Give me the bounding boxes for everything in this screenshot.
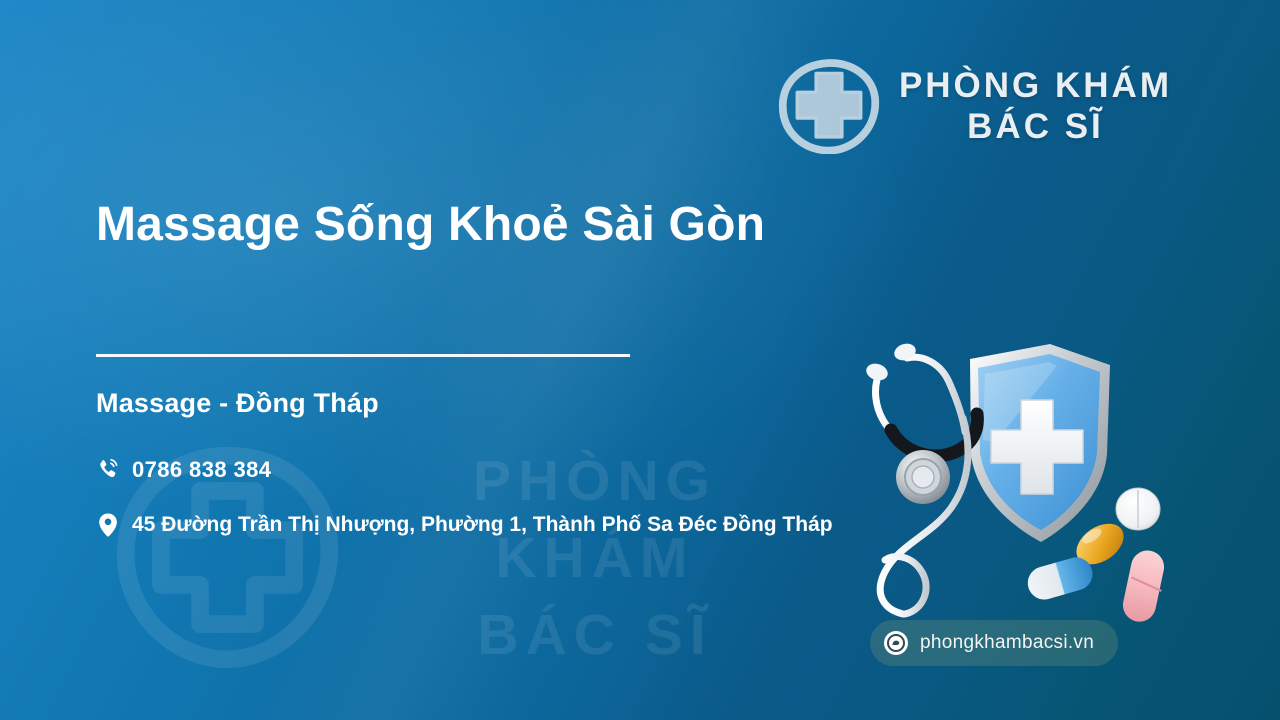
brand-logo: PHÒNG KHÁM BÁC SĨ — [777, 58, 1172, 154]
website-badge[interactable]: phongkhambacsi.vn — [870, 620, 1118, 666]
phone-row[interactable]: 0786 838 384 — [96, 454, 271, 485]
globe-icon — [883, 630, 909, 656]
category-subtitle: Massage - Đồng Tháp — [96, 388, 379, 419]
shield-cross-logo-icon — [777, 58, 881, 154]
divider — [96, 354, 630, 357]
phone-ringing-icon — [96, 456, 120, 482]
brand-line-1: PHÒNG KHÁM — [899, 65, 1172, 106]
brand-name: PHÒNG KHÁM BÁC SĨ — [899, 65, 1172, 148]
clinic-banner: PHÒNG KHÁM BÁC SĨ PHÒNG KHÁM BÁC SĨ Mass… — [0, 0, 1280, 720]
stethoscope-graphic — [864, 341, 977, 614]
address-text: 45 Đường Trần Thị Nhượng, Phường 1, Thàn… — [132, 510, 833, 540]
shield-graphic — [970, 344, 1110, 542]
page-title: Massage Sống Khoẻ Sài Gòn — [96, 196, 876, 254]
medical-shield-stethoscope-pills-illustration — [845, 322, 1175, 622]
website-url: phongkhambacsi.vn — [920, 632, 1094, 654]
brand-line-2: BÁC SĨ — [899, 106, 1172, 147]
phone-number: 0786 838 384 — [132, 454, 271, 485]
map-pin-icon — [96, 512, 120, 538]
address-row[interactable]: 45 Đường Trần Thị Nhượng, Phường 1, Thàn… — [96, 510, 886, 540]
